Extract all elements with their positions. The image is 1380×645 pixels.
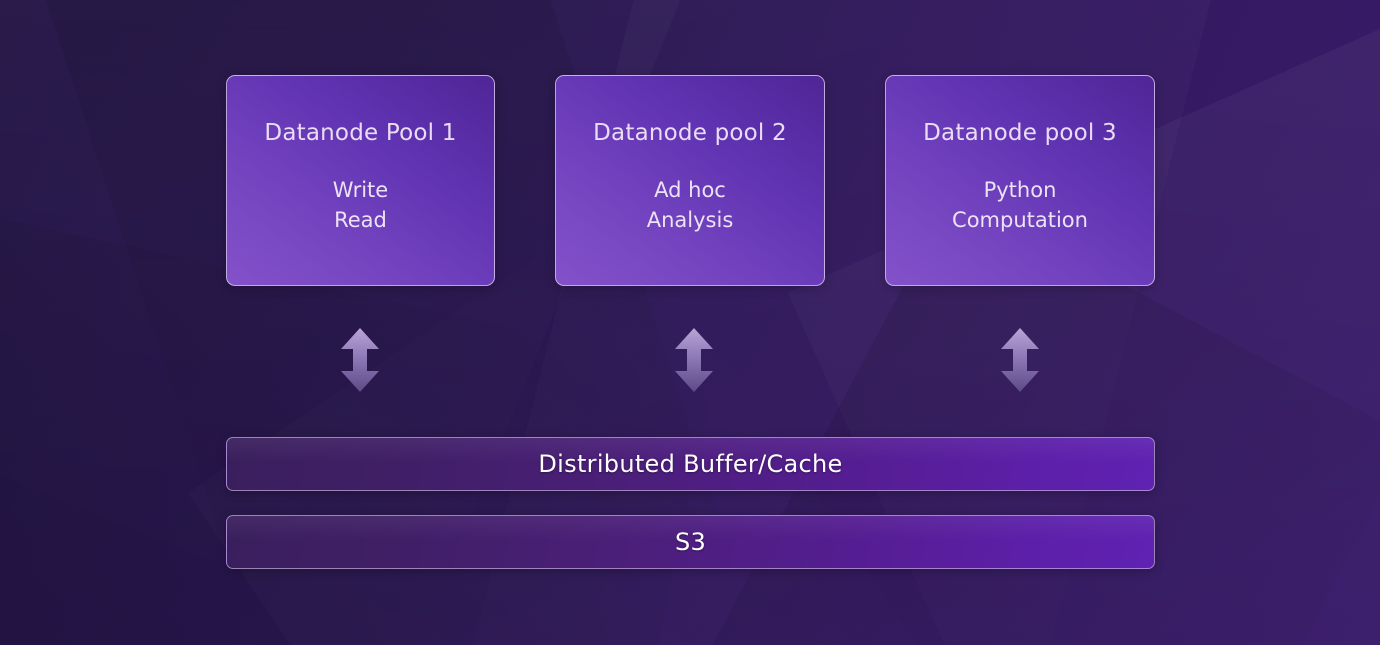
double-arrow-vertical-icon xyxy=(339,327,381,393)
datanode-pool-2-title: Datanode pool 2 xyxy=(593,120,787,148)
datanode-pool-2-role-2: Analysis xyxy=(647,205,734,235)
datanode-pool-3-role-1: Python xyxy=(952,175,1088,205)
datanode-pool-3-box[interactable]: Datanode pool 3 Python Computation xyxy=(885,75,1155,286)
datanode-pool-row: Datanode Pool 1 Write Read Datanode pool… xyxy=(226,75,1155,286)
distributed-buffer-cache-label: Distributed Buffer/Cache xyxy=(538,450,842,478)
datanode-pool-2-roles: Ad hoc Analysis xyxy=(647,175,734,235)
datanode-pool-3-roles: Python Computation xyxy=(952,175,1088,235)
datanode-pool-1-box[interactable]: Datanode Pool 1 Write Read xyxy=(226,75,495,286)
s3-label: S3 xyxy=(675,528,706,556)
s3-bar[interactable]: S3 xyxy=(226,515,1155,569)
datanode-pool-3-role-2: Computation xyxy=(952,205,1088,235)
double-arrow-vertical-icon xyxy=(999,327,1041,393)
distributed-buffer-cache-bar[interactable]: Distributed Buffer/Cache xyxy=(226,437,1155,491)
datanode-pool-1-role-1: Write xyxy=(333,175,388,205)
datanode-pool-3-title: Datanode pool 3 xyxy=(923,120,1117,148)
datanode-pool-1-roles: Write Read xyxy=(333,175,388,235)
double-arrow-vertical-icon xyxy=(673,327,715,393)
connector-row xyxy=(226,327,1155,393)
datanode-pool-2-box[interactable]: Datanode pool 2 Ad hoc Analysis xyxy=(555,75,825,286)
datanode-pool-1-title: Datanode Pool 1 xyxy=(264,120,456,148)
slide-canvas: Datanode Pool 1 Write Read Datanode pool… xyxy=(0,0,1380,645)
datanode-pool-1-role-2: Read xyxy=(333,205,388,235)
datanode-pool-2-role-1: Ad hoc xyxy=(647,175,734,205)
